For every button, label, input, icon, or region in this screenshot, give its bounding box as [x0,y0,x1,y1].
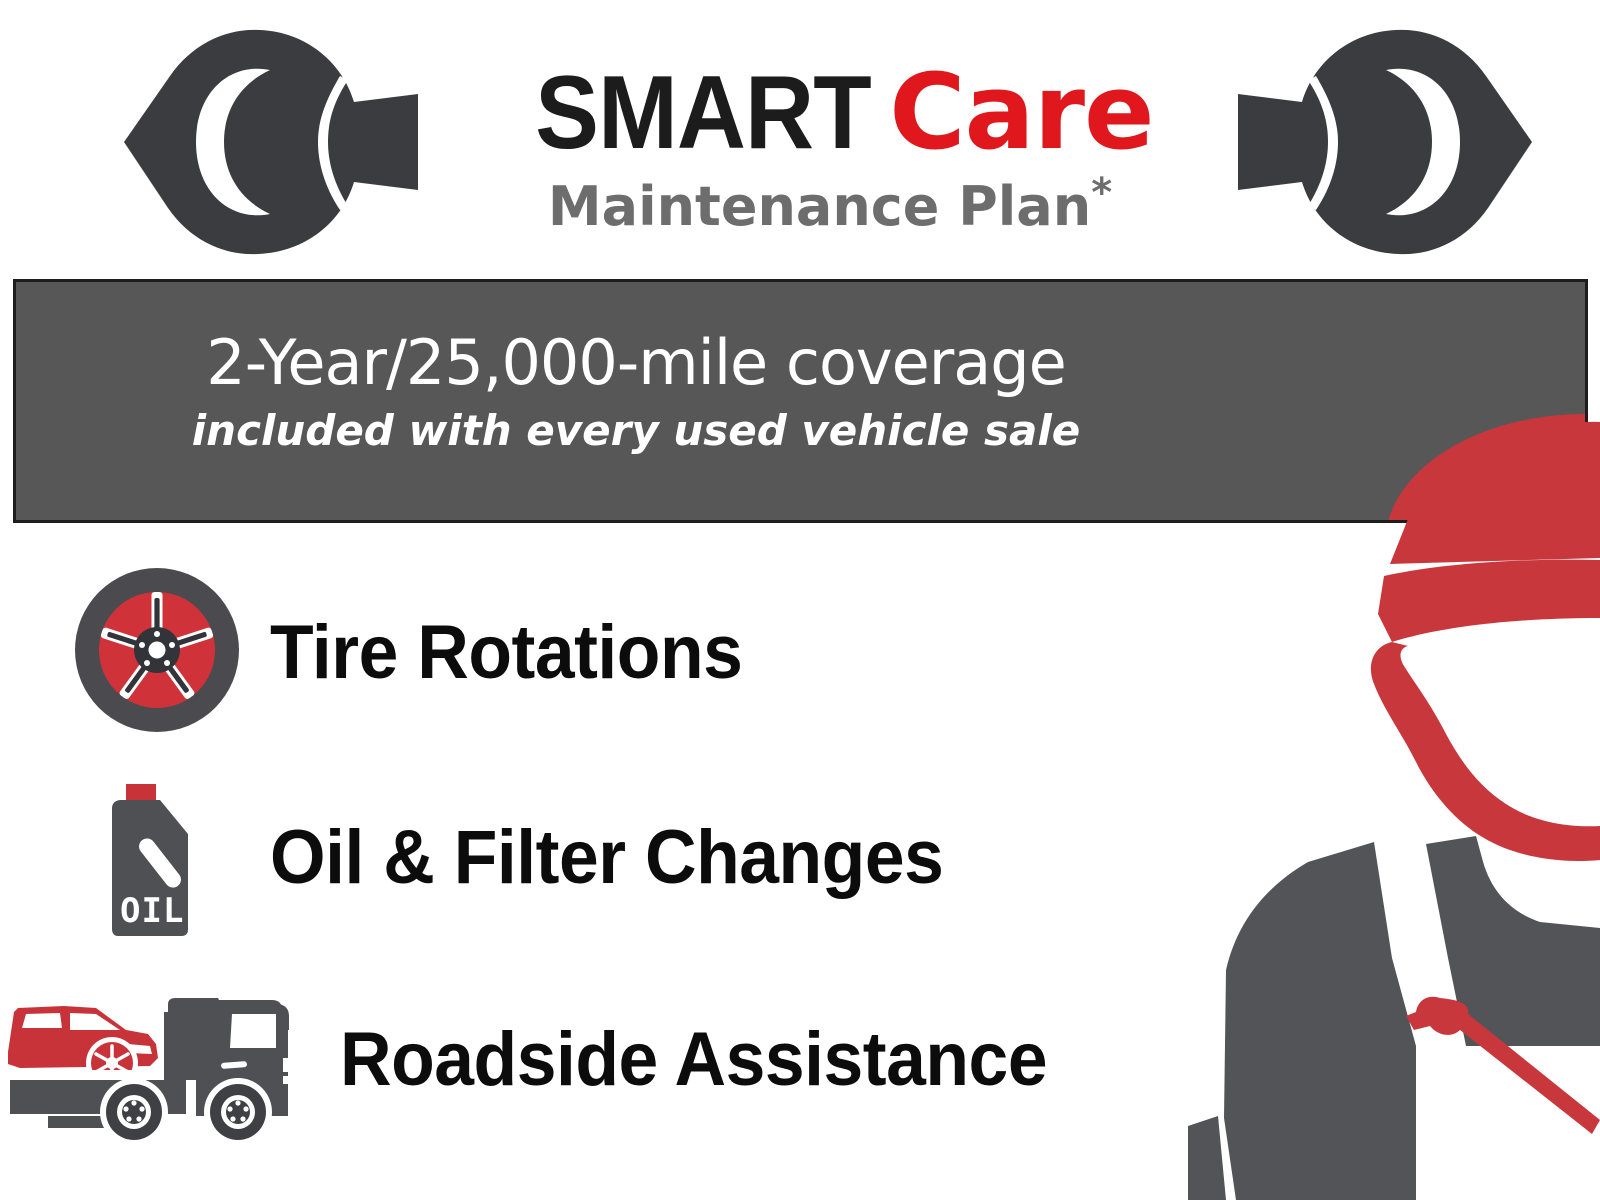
mechanic-overalls [1188,836,1600,1200]
brand-word-primary: SMART [536,61,872,165]
brand-subtitle: Maintenance Plan* [400,173,1260,234]
feature-icon-container [0,960,340,1160]
wrench-open-end-left-icon [118,14,418,262]
wrench-open-end-right-icon [1238,14,1538,262]
tire-wheel-icon [72,565,242,735]
feature-row: Tire Rotations [0,565,773,741]
coverage-subline: included with every used vehicle sale [16,409,1256,453]
feature-row: OIL Oil & Filter Changes [0,770,986,946]
brand-word-accent: Care [889,60,1153,164]
mechanic-with-wrench-illustration [1178,418,1600,1200]
smart-care-maintenance-plan-graphic: SMARTCare Maintenance Plan* 2-Year/25,00… [0,0,1600,1200]
brand-subtitle-text: Maintenance Plan [548,175,1091,238]
oil-bottle-text: OIL [120,891,184,931]
mechanic-face-profile [1371,642,1600,861]
flatbed-tow-truck-icon [0,960,330,1160]
feature-icon-container [0,565,270,741]
feature-label: Oil & Filter Changes [270,820,943,896]
feature-label: Tire Rotations [270,615,742,691]
brand-subtitle-asterisk: * [1091,170,1112,216]
feature-icon-container: OIL [0,770,270,946]
mechanic-cap-icon [1378,422,1600,642]
coverage-banner-text: 2-Year/25,000-mile coverage included wit… [16,282,1256,453]
oil-bottle-icon: OIL [98,778,218,938]
brand-title-block: SMARTCare Maintenance Plan* [400,60,1260,234]
feature-row: Roadside Assistance [0,960,1092,1160]
coverage-headline: 2-Year/25,000-mile coverage [16,330,1256,395]
logo-header: SMARTCare Maintenance Plan* [0,0,1600,272]
feature-label: Roadside Assistance [340,1022,1047,1098]
brand-title: SMARTCare [400,60,1260,165]
